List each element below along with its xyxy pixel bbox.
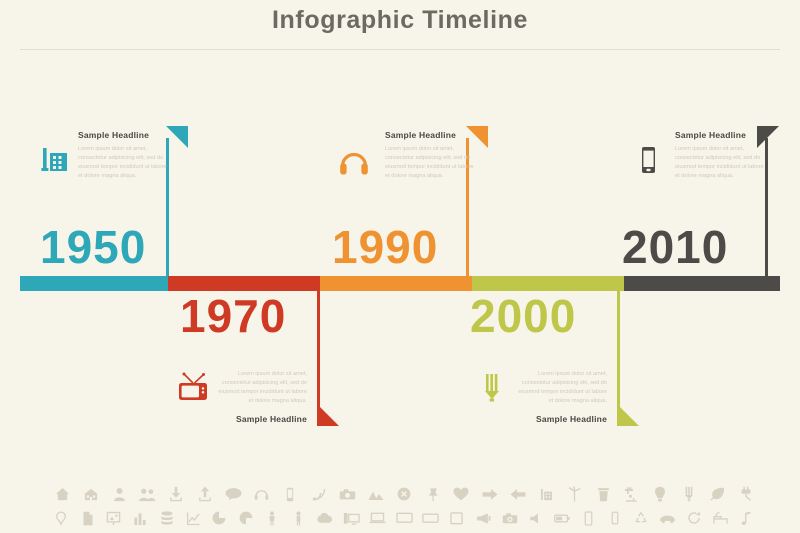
headphones-icon[interactable] xyxy=(247,483,275,505)
man-icon[interactable] xyxy=(285,507,311,529)
axis-segment-2000 xyxy=(472,276,624,291)
heart-icon[interactable] xyxy=(447,483,475,505)
year-label-1950: 1950 xyxy=(40,224,146,270)
body-text-2000: Lorem ipsum dolor sit amet, consectetur … xyxy=(515,370,607,406)
user-icon[interactable] xyxy=(105,483,133,505)
tablet-icon[interactable] xyxy=(444,507,470,529)
circle-icon[interactable] xyxy=(390,483,418,505)
monitor-icon[interactable] xyxy=(391,507,417,529)
icon-library xyxy=(0,476,800,533)
camera-icon[interactable] xyxy=(333,483,361,505)
phone-small-icon[interactable] xyxy=(602,507,628,529)
headline-2010: Sample Headline xyxy=(675,130,767,140)
phone-icon[interactable] xyxy=(576,507,602,529)
bar-chart-icon[interactable] xyxy=(127,507,153,529)
page-title: Infographic Timeline xyxy=(0,6,800,35)
content-block-1990: Sample Headline Lorem ipsum dolor sit am… xyxy=(385,130,477,181)
headline-1950: Sample Headline xyxy=(78,130,170,140)
bed-icon[interactable] xyxy=(707,507,733,529)
smartphone-icon xyxy=(634,144,662,183)
axis-segment-1990 xyxy=(320,276,472,291)
body-text-1950: Lorem ipsum dolor sit amet, consectetur … xyxy=(78,145,170,181)
mobile-icon[interactable] xyxy=(276,483,304,505)
users-icon[interactable] xyxy=(133,483,161,505)
speech-bubble-icon[interactable] xyxy=(219,483,247,505)
factory-icon xyxy=(38,142,72,181)
body-text-1990: Lorem ipsum dolor sit amet, consectetur … xyxy=(385,145,477,181)
home-icon[interactable] xyxy=(48,483,76,505)
cfl-bulb-icon xyxy=(477,370,507,409)
speaker-icon[interactable] xyxy=(523,507,549,529)
icon-library-row-2 xyxy=(48,506,760,530)
map-pin-icon[interactable] xyxy=(48,507,74,529)
leaf-icon[interactable] xyxy=(703,483,731,505)
pie-chart-filled-icon[interactable] xyxy=(233,507,259,529)
ribbon-flag-2000 xyxy=(617,404,639,426)
house-icon[interactable] xyxy=(76,483,104,505)
cloud-icon[interactable] xyxy=(312,507,338,529)
icon-library-row-1 xyxy=(48,482,760,506)
content-block-1950: Sample Headline Lorem ipsum dolor sit am… xyxy=(78,130,170,181)
line-chart-icon[interactable] xyxy=(180,507,206,529)
content-block-2000: Lorem ipsum dolor sit amet, consectetur … xyxy=(515,370,607,424)
desktop-icon[interactable] xyxy=(338,507,364,529)
refresh-icon[interactable] xyxy=(681,507,707,529)
year-label-1990: 1990 xyxy=(332,224,438,270)
photo-camera-icon[interactable] xyxy=(496,507,522,529)
music-note-icon[interactable] xyxy=(734,507,760,529)
year-label-2010: 2010 xyxy=(622,224,728,270)
year-label-1970: 1970 xyxy=(180,293,286,339)
rss-icon[interactable] xyxy=(304,483,332,505)
monitor-wide-icon[interactable] xyxy=(417,507,443,529)
megaphone-icon[interactable] xyxy=(470,507,496,529)
arrow-right-icon[interactable] xyxy=(475,483,503,505)
plug-icon[interactable] xyxy=(732,483,760,505)
content-block-1970: Lorem ipsum dolor sit amet, consectetur … xyxy=(215,370,307,424)
download-icon[interactable] xyxy=(162,483,190,505)
pushpin-icon[interactable] xyxy=(418,483,446,505)
headline-1990: Sample Headline xyxy=(385,130,477,140)
battery-icon[interactable] xyxy=(549,507,575,529)
upload-icon[interactable] xyxy=(190,483,218,505)
faucet-icon[interactable] xyxy=(618,483,646,505)
headline-2000: Sample Headline xyxy=(515,414,607,424)
cfl-bulb-icon[interactable] xyxy=(675,483,703,505)
year-label-2000: 2000 xyxy=(470,293,576,339)
presentation-icon[interactable] xyxy=(101,507,127,529)
television-icon xyxy=(176,370,210,409)
woman-icon[interactable] xyxy=(259,507,285,529)
timeline-axis xyxy=(20,276,780,291)
factory-icon[interactable] xyxy=(532,483,560,505)
headphones-icon xyxy=(337,146,371,185)
content-block-2010: Sample Headline Lorem ipsum dolor sit am… xyxy=(675,130,767,181)
trash-icon[interactable] xyxy=(589,483,617,505)
body-text-1970: Lorem ipsum dolor sit amet, consectetur … xyxy=(215,370,307,406)
axis-segment-1950 xyxy=(20,276,168,291)
car-icon[interactable] xyxy=(655,507,681,529)
axis-segment-2010 xyxy=(624,276,780,291)
lightbulb-icon[interactable] xyxy=(646,483,674,505)
pie-chart-icon[interactable] xyxy=(206,507,232,529)
body-text-2010: Lorem ipsum dolor sit amet, consectetur … xyxy=(675,145,767,181)
recycle-icon[interactable] xyxy=(628,507,654,529)
arrow-left-icon[interactable] xyxy=(504,483,532,505)
mountains-icon[interactable] xyxy=(361,483,389,505)
ribbon-flag-1970 xyxy=(317,404,339,426)
document-icon[interactable] xyxy=(74,507,100,529)
infographic-canvas: Infographic Timeline 1950 Sample Headlin… xyxy=(0,0,800,533)
headline-1970: Sample Headline xyxy=(215,414,307,424)
title-divider xyxy=(20,49,780,50)
axis-segment-1970 xyxy=(168,276,320,291)
laptop-icon[interactable] xyxy=(365,507,391,529)
wind-turbine-icon[interactable] xyxy=(561,483,589,505)
database-icon[interactable] xyxy=(154,507,180,529)
